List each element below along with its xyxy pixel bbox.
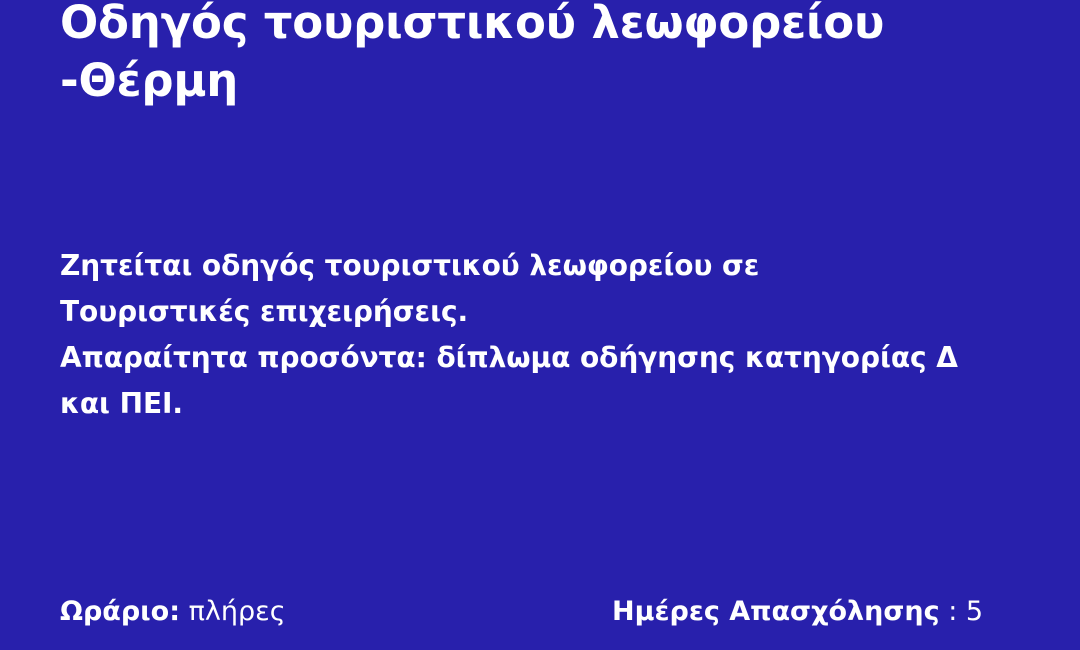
job-posting-card: Οδηγός τουριστικού λεωφορείου -Θέρμη Ζητ… — [0, 0, 1080, 650]
description-line: και ΠΕΙ. — [60, 381, 1070, 427]
working-days-label: Ημέρες Απασχόλησης — [612, 596, 940, 627]
page-title: Οδηγός τουριστικού λεωφορείου -Θέρμη — [60, 0, 1060, 110]
working-days-separator: : — [940, 596, 966, 627]
schedule-field: Ωράριο: πλήρες — [60, 592, 286, 632]
description-line: Τουριστικές επιχειρήσεις. — [60, 289, 1070, 335]
schedule-separator — [180, 596, 189, 627]
title-line-primary: Οδηγός τουριστικού λεωφορείου — [60, 0, 1060, 52]
job-description: Ζητείται οδηγός τουριστικού λεωφορείου σ… — [60, 243, 1070, 427]
footer-meta-row: Ωράριο: πλήρες Ημέρες Απασχόλησης : 5 — [0, 592, 1080, 650]
working-days-field: Ημέρες Απασχόλησης : 5 — [612, 592, 983, 632]
working-days-value: 5 — [966, 596, 983, 627]
description-line: Απαραίτητα προσόντα: δίπλωμα οδήγησης κα… — [60, 335, 1070, 381]
schedule-label: Ωράριο: — [60, 596, 180, 627]
schedule-value: πλήρες — [189, 596, 286, 627]
description-line: Ζητείται οδηγός τουριστικού λεωφορείου σ… — [60, 243, 1070, 289]
title-line-location: -Θέρμη — [60, 52, 1060, 110]
